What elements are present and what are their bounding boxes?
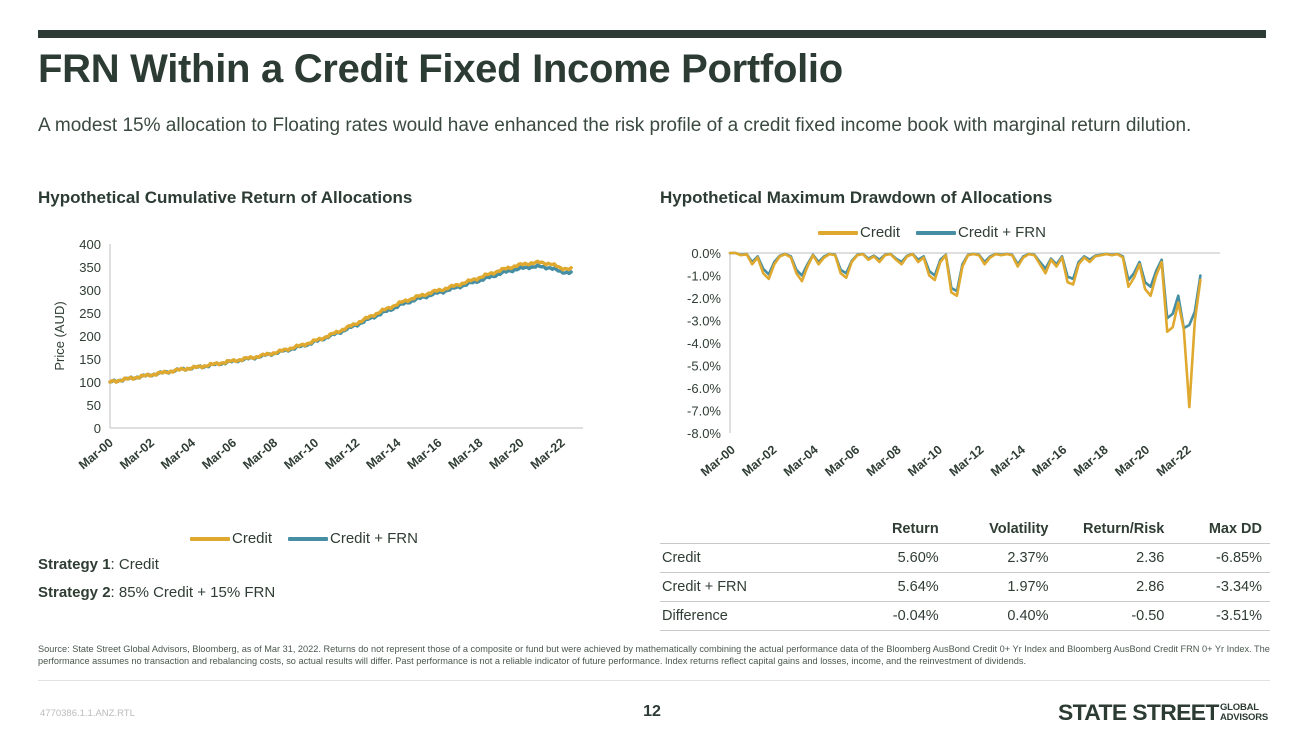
- svg-text:100: 100: [79, 375, 101, 390]
- svg-text:-2.0%: -2.0%: [687, 291, 721, 306]
- table-cell-return-risk: 2.86: [1056, 573, 1172, 602]
- strategy-1: Strategy 1: Credit: [38, 556, 159, 573]
- svg-text:Mar-16: Mar-16: [1029, 443, 1069, 480]
- svg-text:Mar-00: Mar-00: [698, 443, 738, 480]
- table-row: Credit 5.60% 2.37% 2.36 -6.85%: [660, 544, 1270, 573]
- svg-text:0.0%: 0.0%: [691, 246, 721, 261]
- svg-text:250: 250: [79, 306, 101, 321]
- svg-text:Mar-18: Mar-18: [1071, 443, 1111, 480]
- svg-text:-3.0%: -3.0%: [687, 314, 721, 329]
- svg-text:Mar-10: Mar-10: [281, 436, 321, 473]
- source-footnote: Source: State Street Global Advisors, Bl…: [38, 643, 1270, 667]
- svg-text:400: 400: [79, 237, 101, 252]
- legend-label-credit-frn: Credit + FRN: [958, 224, 1046, 241]
- chart-title-maximum-drawdown: Hypothetical Maximum Drawdown of Allocat…: [660, 188, 1052, 208]
- table-cell-label: Credit + FRN: [660, 573, 843, 602]
- svg-text:-7.0%: -7.0%: [687, 404, 721, 419]
- svg-text:0: 0: [94, 421, 101, 436]
- svg-text:-4.0%: -4.0%: [687, 336, 721, 351]
- top-rule-divider: [38, 30, 1266, 38]
- legend-label-credit-frn: Credit + FRN: [330, 530, 418, 547]
- table-cell-label: Difference: [660, 602, 843, 631]
- table-cell-return-risk: 2.36: [1056, 544, 1172, 573]
- svg-text:-1.0%: -1.0%: [687, 269, 721, 284]
- footer-divider: [38, 680, 1270, 681]
- svg-text:Mar-18: Mar-18: [446, 436, 486, 473]
- table-cell-return: 5.60%: [843, 544, 947, 573]
- table-cell-volatility: 0.40%: [947, 602, 1057, 631]
- table-header-return: Return: [843, 518, 947, 544]
- table-cell-volatility: 2.37%: [947, 544, 1057, 573]
- logo-subtext-line2: ADVISORS: [1220, 713, 1268, 723]
- legend-swatch-credit-frn: [916, 231, 956, 235]
- svg-text:Mar-00: Mar-00: [76, 436, 116, 473]
- legend-label-credit: Credit: [232, 530, 272, 547]
- legend-swatch-credit: [190, 537, 230, 541]
- svg-text:Mar-20: Mar-20: [487, 436, 527, 473]
- svg-text:Mar-22: Mar-22: [1154, 443, 1194, 480]
- svg-text:Mar-04: Mar-04: [158, 436, 198, 473]
- chart-cumulative-return: 050100150200250300350400Price (AUD)Mar-0…: [38, 230, 598, 520]
- svg-text:Mar-16: Mar-16: [405, 436, 445, 473]
- legend-item-credit: Credit: [818, 224, 900, 241]
- table-cell-max-dd: -6.85%: [1172, 544, 1270, 573]
- statistics-table: Return Volatility Return/Risk Max DD Cre…: [660, 518, 1270, 631]
- ssga-logo: STATE STREET GLOBAL ADVISORS: [1058, 700, 1268, 726]
- svg-text:Mar-12: Mar-12: [947, 443, 987, 480]
- chart-maximum-drawdown: 0.0%-1.0%-2.0%-3.0%-4.0%-5.0%-6.0%-7.0%-…: [660, 215, 1270, 515]
- legend-swatch-credit: [818, 231, 858, 235]
- legend-cumulative-return: Credit Credit + FRN: [190, 530, 418, 547]
- page-title: FRN Within a Credit Fixed Income Portfol…: [38, 46, 1268, 92]
- legend-maximum-drawdown: Credit Credit + FRN: [818, 224, 1046, 241]
- svg-text:Mar-14: Mar-14: [988, 443, 1028, 480]
- svg-text:Mar-06: Mar-06: [199, 436, 239, 473]
- svg-text:-8.0%: -8.0%: [687, 426, 721, 441]
- strategy-1-text: : Credit: [111, 556, 159, 573]
- table-header-max-dd: Max DD: [1172, 518, 1270, 544]
- table-row: Credit + FRN 5.64% 1.97% 2.86 -3.34%: [660, 573, 1270, 602]
- logo-subtext: GLOBAL ADVISORS: [1220, 703, 1268, 723]
- svg-text:Mar-06: Mar-06: [822, 443, 862, 480]
- table-cell-label: Credit: [660, 544, 843, 573]
- svg-text:Mar-20: Mar-20: [1112, 443, 1152, 480]
- svg-text:-6.0%: -6.0%: [687, 381, 721, 396]
- page-subtitle: A modest 15% allocation to Floating rate…: [38, 112, 1228, 139]
- legend-item-credit-frn: Credit + FRN: [916, 224, 1046, 241]
- legend-item-credit: Credit: [190, 530, 272, 547]
- svg-text:Mar-10: Mar-10: [905, 443, 945, 480]
- table-cell-return-risk: -0.50: [1056, 602, 1172, 631]
- svg-text:200: 200: [79, 329, 101, 344]
- legend-item-credit-frn: Credit + FRN: [288, 530, 418, 547]
- legend-label-credit: Credit: [860, 224, 900, 241]
- chart-title-cumulative-return: Hypothetical Cumulative Return of Alloca…: [38, 188, 412, 208]
- svg-text:Mar-22: Mar-22: [528, 436, 568, 473]
- legend-swatch-credit-frn: [288, 537, 328, 541]
- table-header-row: Return Volatility Return/Risk Max DD: [660, 518, 1270, 544]
- strategy-2-label: Strategy 2: [38, 584, 111, 601]
- logo-wordmark: STATE STREET: [1058, 700, 1219, 726]
- svg-text:Mar-08: Mar-08: [864, 443, 904, 480]
- svg-text:Mar-12: Mar-12: [322, 436, 362, 473]
- svg-text:50: 50: [87, 398, 101, 413]
- svg-text:150: 150: [79, 352, 101, 367]
- svg-text:Mar-02: Mar-02: [739, 443, 779, 480]
- svg-text:Mar-04: Mar-04: [781, 443, 821, 480]
- strategy-1-label: Strategy 1: [38, 556, 111, 573]
- slide-root: FRN Within a Credit Fixed Income Portfol…: [0, 0, 1304, 736]
- svg-text:Mar-14: Mar-14: [364, 436, 404, 473]
- table-row: Difference -0.04% 0.40% -0.50 -3.51%: [660, 602, 1270, 631]
- svg-text:-5.0%: -5.0%: [687, 359, 721, 374]
- table-cell-volatility: 1.97%: [947, 573, 1057, 602]
- table-header-return-risk: Return/Risk: [1056, 518, 1172, 544]
- strategy-2-text: : 85% Credit + 15% FRN: [111, 584, 276, 601]
- svg-text:350: 350: [79, 260, 101, 275]
- table-header-volatility: Volatility: [947, 518, 1057, 544]
- svg-text:Price (AUD): Price (AUD): [52, 301, 67, 370]
- table-cell-max-dd: -3.51%: [1172, 602, 1270, 631]
- strategy-2: Strategy 2: 85% Credit + 15% FRN: [38, 584, 275, 601]
- svg-text:Mar-02: Mar-02: [117, 436, 157, 473]
- svg-text:300: 300: [79, 283, 101, 298]
- table-header-blank: [660, 518, 843, 544]
- table-cell-return: -0.04%: [843, 602, 947, 631]
- table-cell-return: 5.64%: [843, 573, 947, 602]
- table-cell-max-dd: -3.34%: [1172, 573, 1270, 602]
- svg-text:Mar-08: Mar-08: [240, 436, 280, 473]
